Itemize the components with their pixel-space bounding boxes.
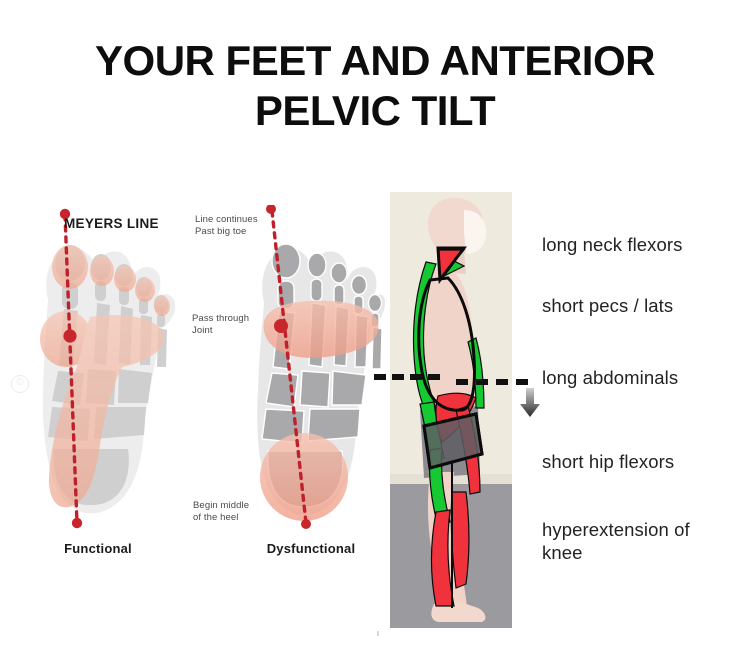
dysfunctional-caption: Dysfunctional	[236, 541, 386, 556]
title-line-1: YOUR FEET AND ANTERIOR	[0, 36, 750, 86]
infographic-page: YOUR FEET AND ANTERIOR PELVIC TILT	[0, 0, 750, 645]
pelvic-reference-line-left	[374, 374, 440, 380]
annotation-middle: Pass through Joint	[192, 313, 272, 336]
functional-foot-svg	[18, 205, 178, 535]
label-long-neck-flexors: long neck flexors	[542, 233, 683, 256]
foot-diagram-functional	[18, 205, 178, 535]
title-line-2: PELVIC TILT	[0, 86, 750, 136]
label-hyperextension-of-knee: hyperextension of knee	[542, 518, 732, 564]
downward-arrow-icon	[519, 388, 541, 418]
posture-photo	[390, 192, 512, 628]
meyers-line-label: MEYERS LINE	[64, 216, 159, 231]
annotation-top: Line continues Past big toe	[195, 214, 275, 237]
annotation-bottom: Begin middle of the heel	[193, 500, 283, 523]
functional-caption: Functional	[18, 541, 178, 556]
watermark-icon: ©	[11, 375, 29, 393]
photo-corner-mark	[377, 631, 379, 636]
posture-overlay-svg	[390, 192, 512, 628]
foot-diagram-dysfunctional	[236, 205, 386, 535]
label-short-hip-flexors: short hip flexors	[542, 450, 674, 473]
dysfunctional-foot-svg	[236, 205, 386, 535]
label-short-pecs-lats: short pecs / lats	[542, 294, 673, 317]
pelvic-reference-line-right	[456, 379, 528, 385]
page-title: YOUR FEET AND ANTERIOR PELVIC TILT	[0, 36, 750, 136]
label-long-abdominals: long abdominals	[542, 366, 678, 389]
